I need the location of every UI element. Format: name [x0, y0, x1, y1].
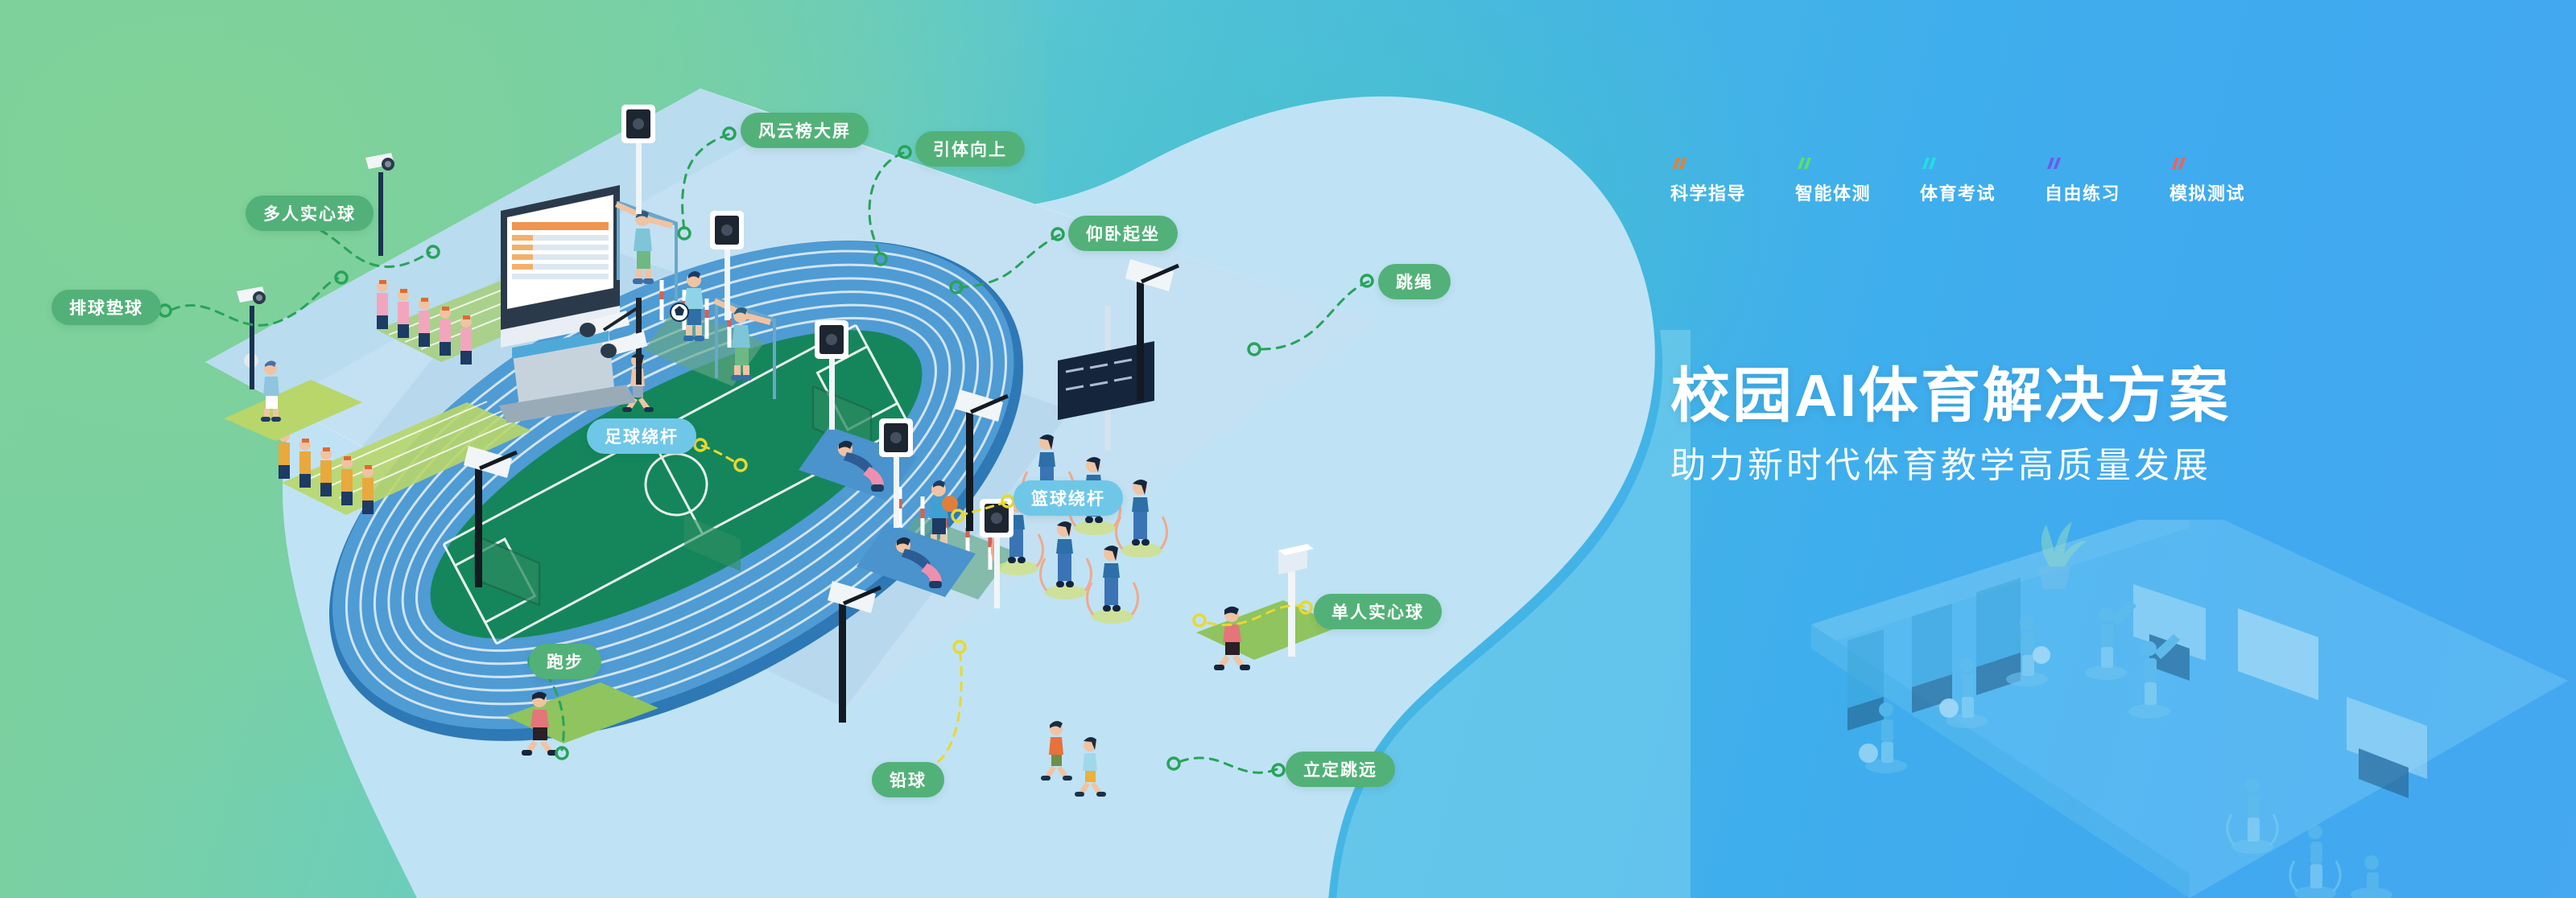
feature-marker-icon — [2169, 154, 2294, 172]
hotspot-leaderboard-screen[interactable]: 风云榜大屏 — [741, 113, 869, 148]
kiosk-1 — [1847, 629, 1884, 731]
feature-marker-icon — [1920, 154, 2045, 172]
leaderboard-kiosk — [499, 185, 636, 423]
kiosk-2 — [1912, 603, 1952, 713]
feature-label: 体育考试 — [1920, 179, 2045, 205]
feature-marker-icon — [1795, 154, 1920, 172]
page-title: 校园AI体育解决方案 — [1670, 366, 2475, 426]
feature-item-free-practice[interactable]: 自由练习 — [2045, 154, 2169, 205]
hotspot-shotput[interactable]: 铅球 — [872, 762, 944, 797]
feature-item-pe-exam[interactable]: 体育考试 — [1920, 154, 2045, 205]
hotspot-basketball-slalom[interactable]: 篮球绕杆 — [1013, 480, 1123, 516]
page-subtitle: 助力新时代体育教学高质量发展 — [1670, 448, 2475, 484]
feature-item-smart-fitness-test[interactable]: 智能体测 — [1795, 154, 1920, 205]
feature-item-mock-test[interactable]: 模拟测试 — [2169, 154, 2294, 205]
hotspot-multi-solid-ball[interactable]: 多人实心球 — [246, 196, 374, 231]
hotspot-pullup[interactable]: 引体向上 — [915, 131, 1025, 167]
feature-label: 智能体测 — [1795, 179, 1920, 205]
hotspot-volleyball-bump[interactable]: 排球垫球 — [52, 290, 161, 325]
feature-marker-icon — [2045, 154, 2169, 172]
hotspot-jump-rope[interactable]: 跳绳 — [1378, 264, 1451, 299]
hotspot-situp[interactable]: 仰卧起坐 — [1068, 216, 1178, 251]
feature-marker-icon — [1670, 154, 1795, 172]
headline-block: 校园AI体育解决方案 助力新时代体育教学高质量发展 — [1670, 366, 2475, 484]
indoor-training-room-illustration — [1755, 520, 2576, 898]
hotspot-running[interactable]: 跑步 — [529, 644, 601, 679]
runner-pair-bottom — [1041, 721, 1106, 797]
hotspot-single-solid-ball[interactable]: 单人实心球 — [1314, 594, 1442, 629]
feature-label: 科学指导 — [1670, 179, 1795, 205]
feature-nav: 科学指导 智能体测 体育考试 自由练习 模拟测试 — [1670, 154, 2294, 205]
hotspot-standing-long-jump[interactable]: 立定跳远 — [1286, 752, 1395, 787]
hero-banner: 排球垫球 多人实心球 风云榜大屏 引体向上 仰卧起坐 跳绳 足球绕杆 篮球绕杆 … — [0, 0, 2576, 898]
feature-label: 自由练习 — [2045, 179, 2169, 205]
feature-item-scientific-guidance[interactable]: 科学指导 — [1670, 154, 1795, 205]
feature-label: 模拟测试 — [2169, 179, 2294, 205]
hotspot-soccer-slalom[interactable]: 足球绕杆 — [587, 418, 696, 454]
person-rope-3 — [2351, 855, 2392, 898]
